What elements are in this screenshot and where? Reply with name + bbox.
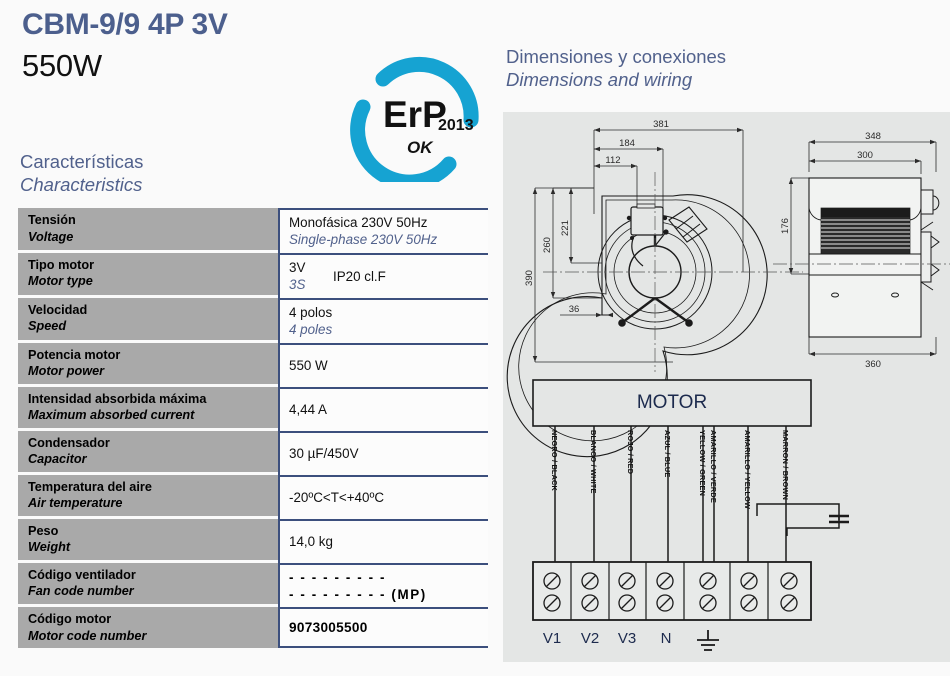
spec-label-voltage: Tensión Voltage: [18, 208, 278, 253]
label-en: Maximum absorbed current: [28, 407, 278, 424]
value-es: 4 polos: [289, 304, 488, 321]
spec-value-motor-power: 550 W: [278, 343, 488, 387]
terminal-label-v2: V2: [581, 630, 599, 647]
label-en: Air temperature: [28, 495, 278, 512]
table-row: Intensidad absorbida máxima Maximum abso…: [18, 387, 488, 431]
table-row: Potencia motor Motor power 550 W: [18, 343, 488, 387]
wire-label-blue: AZUL / BLUE: [663, 430, 672, 477]
spec-label-air-temperature: Temperatura del aire Air temperature: [18, 475, 278, 519]
label-en: Motor power: [28, 363, 278, 380]
terminal-label-v3: V3: [618, 630, 636, 647]
spec-value-speed: 4 polos 4 poles: [278, 298, 488, 343]
page-title: CBM-9/9 4P 3V: [22, 8, 228, 42]
table-row: Velocidad Speed 4 polos 4 poles: [18, 298, 488, 343]
label-en: Capacitor: [28, 451, 278, 468]
value: 550 W: [289, 357, 488, 374]
value: 4,44 A: [289, 401, 488, 418]
spec-label-motor-power: Potencia motor Motor power: [18, 343, 278, 387]
table-row: Tipo motor Motor type 3V 3S IP20 cl.F: [18, 253, 488, 298]
dimensions-heading-es: Dimensiones y conexiones: [506, 45, 726, 68]
dim-front-112: 112: [605, 155, 620, 166]
table-row: Peso Weight 14,0 kg: [18, 519, 488, 563]
value: 9073005500: [289, 619, 488, 637]
value: -20ºC<T<+40ºC: [289, 489, 488, 506]
characteristics-heading: Características Characteristics: [20, 150, 143, 197]
dimensions-heading-en: Dimensions and wiring: [506, 68, 726, 91]
dim-side-348: 348: [865, 131, 881, 142]
dim-front-381: 381: [653, 119, 669, 130]
power-rating-title: 550W: [22, 48, 102, 84]
characteristics-heading-es: Características: [20, 150, 143, 173]
spec-label-max-current: Intensidad absorbida máxima Maximum abso…: [18, 387, 278, 431]
table-row: Código ventilador Fan code number - - - …: [18, 563, 488, 608]
table-row: Temperatura del aire Air temperature -20…: [18, 475, 488, 519]
label-en: Speed: [28, 318, 278, 335]
spec-label-weight: Peso Weight: [18, 519, 278, 563]
wire-label-yellow-green: YELLOW / GREEN: [698, 430, 707, 496]
wiring-diagram: [533, 380, 849, 650]
label-es: Intensidad absorbida máxima: [28, 391, 278, 408]
dim-front-221: 221: [560, 220, 571, 236]
earth-ground-icon: [697, 630, 719, 650]
spec-value-motor-code: 9073005500: [278, 607, 488, 648]
label-en: Motor type: [28, 273, 278, 290]
spec-value-weight: 14,0 kg: [278, 519, 488, 563]
table-row: Condensador Capacitor 30 µF/450V: [18, 431, 488, 475]
value-protection-class: IP20 cl.F: [333, 268, 386, 285]
value-en: 3S: [289, 276, 333, 293]
spec-value-max-current: 4,44 A: [278, 387, 488, 431]
specifications-table: Tensión Voltage Monofásica 230V 50Hz Sin…: [18, 208, 488, 648]
dim-side-360: 360: [865, 359, 881, 370]
table-row: Tensión Voltage Monofásica 230V 50Hz Sin…: [18, 208, 488, 253]
spec-value-capacitor: 30 µF/450V: [278, 431, 488, 475]
erp-year-text: 2013: [438, 117, 474, 134]
label-es: Condensador: [28, 435, 278, 452]
label-en: Weight: [28, 539, 278, 556]
dim-front-390: 390: [524, 270, 535, 286]
dim-side-176: 176: [780, 218, 791, 234]
value: 14,0 kg: [289, 533, 488, 550]
value-line-1: - - - - - - - - -: [289, 569, 488, 586]
wire-label-marron-brown: MARRON / BROWN: [781, 430, 790, 500]
wire-label-amarillo-yellow: AMARILLO / YELLOW: [743, 430, 752, 509]
wire-label-white: BLANCO / WHITE: [589, 430, 598, 494]
label-es: Código motor: [28, 611, 278, 628]
value-es: 3V: [289, 259, 333, 276]
spec-value-fan-code: - - - - - - - - - - - - - - - - - - (MP): [278, 563, 488, 608]
spec-label-capacitor: Condensador Capacitor: [18, 431, 278, 475]
wire-label-black: NEGRO / BLACK: [550, 430, 559, 492]
value: 30 µF/450V: [289, 445, 488, 462]
label-en: Voltage: [28, 229, 278, 246]
label-es: Tipo motor: [28, 257, 278, 274]
terminal-label-n: N: [661, 630, 672, 647]
label-es: Temperatura del aire: [28, 479, 278, 496]
label-en: Motor code number: [28, 628, 278, 645]
spec-value-motor-type: 3V 3S IP20 cl.F: [278, 253, 488, 298]
erp-logo: ErP 2013 OK: [345, 52, 495, 182]
dim-front-184: 184: [619, 138, 635, 149]
dimensions-and-wiring-panel: 381 184 112 36 390 260 221 348 300 360 1…: [503, 112, 950, 662]
label-es: Código ventilador: [28, 567, 278, 584]
spec-value-voltage: Monofásica 230V 50Hz Single-phase 230V 5…: [278, 208, 488, 253]
left-column: CBM-9/9 4P 3V 550W ErP 2013 OK Caracterí…: [0, 0, 500, 676]
spec-label-motor-code: Código motor Motor code number: [18, 607, 278, 648]
label-es: Peso: [28, 523, 278, 540]
label-es: Potencia motor: [28, 347, 278, 364]
spec-value-air-temperature: -20ºC<T<+40ºC: [278, 475, 488, 519]
value-en: Single-phase 230V 50Hz: [289, 231, 488, 248]
value-es: Monofásica 230V 50Hz: [289, 214, 488, 231]
spec-label-fan-code: Código ventilador Fan code number: [18, 563, 278, 608]
side-view-drawing: [773, 140, 950, 356]
wire-label-red: ROJO / RED: [626, 430, 635, 474]
label-en: Fan code number: [28, 583, 278, 600]
spec-label-speed: Velocidad Speed: [18, 298, 278, 343]
characteristics-heading-en: Characteristics: [20, 173, 143, 196]
wire-label-amarillo-verde: AMARILLO / VERDE: [709, 430, 718, 503]
label-es: Velocidad: [28, 302, 278, 319]
dimensions-heading: Dimensiones y conexiones Dimensions and …: [506, 45, 726, 92]
value-en: 4 poles: [289, 321, 488, 338]
label-es: Tensión: [28, 212, 278, 229]
motor-box-label: MOTOR: [637, 392, 707, 413]
dim-front-36: 36: [569, 304, 580, 315]
table-row: Código motor Motor code number 907300550…: [18, 607, 488, 648]
value-line-2: - - - - - - - - - (MP): [289, 586, 488, 603]
dim-front-260: 260: [542, 237, 553, 253]
right-column: Dimensiones y conexiones Dimensions and …: [500, 0, 950, 676]
erp-ok-text: OK: [407, 138, 434, 157]
dim-side-300: 300: [857, 150, 873, 161]
spec-label-motor-type: Tipo motor Motor type: [18, 253, 278, 298]
terminal-label-v1: V1: [543, 630, 561, 647]
